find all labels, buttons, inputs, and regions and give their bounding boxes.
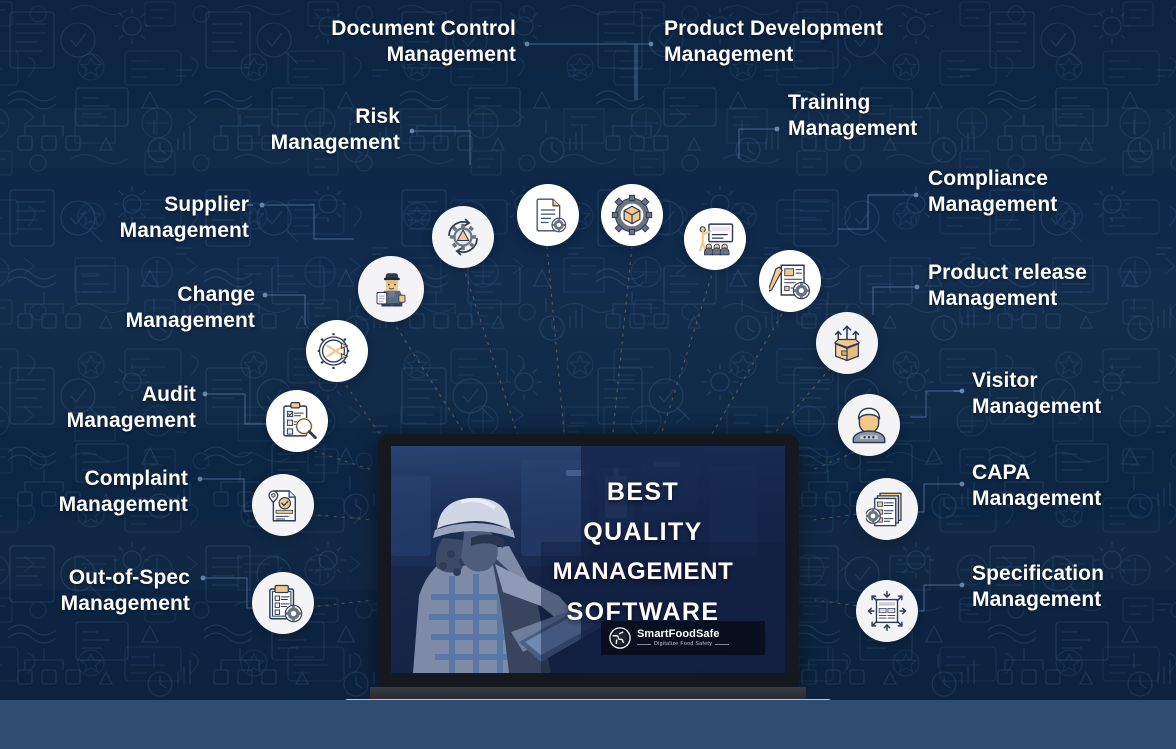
module-label-audit: Audit Management <box>0 382 196 433</box>
headline-line-1: BEST <box>517 472 769 512</box>
module-label-product-release: Product release Management <box>928 260 1168 311</box>
audit-clipboard-magnifier-icon <box>276 400 318 442</box>
compliance-document-pen-gear-icon <box>769 260 811 302</box>
specification-document-arrows-icon <box>866 590 908 632</box>
product-development-gear-box-icon <box>611 194 653 236</box>
module-label-complaint: Complaint Management <box>0 466 188 517</box>
footer-band <box>0 700 1176 749</box>
bubble-product-development-management[interactable] <box>601 184 663 246</box>
supplier-worker-icon <box>370 268 412 310</box>
bubble-product-release-management[interactable] <box>816 312 878 374</box>
bubble-specification-management[interactable] <box>856 580 918 642</box>
laptop-mockup: BEST QUALITY MANAGEMENT SOFTWARE SmartFo… <box>362 434 814 724</box>
bubble-visitor-management[interactable] <box>838 394 900 456</box>
bubble-out-of-spec-management[interactable] <box>252 572 314 634</box>
complaint-document-icon <box>262 484 304 526</box>
bubble-risk-management[interactable] <box>432 206 494 268</box>
brand-tagline-text: Digitalize Food Safety <box>654 642 712 647</box>
headline-line-3: MANAGEMENT <box>517 552 769 592</box>
module-label-product-development: Product Development Management <box>664 16 950 67</box>
bubble-document-control-management[interactable] <box>517 184 579 246</box>
brand-tagline: Digitalize Food Safety <box>637 642 729 647</box>
brand-name: SmartFoodSafe <box>637 629 729 640</box>
bubble-complaint-management[interactable] <box>252 474 314 536</box>
globe-icon <box>609 627 631 649</box>
module-label-change: Change Management <box>16 282 255 333</box>
bubble-capa-management[interactable] <box>856 478 918 540</box>
outofspec-clipboard-gear-icon <box>262 582 304 624</box>
module-label-specification: Specification Management <box>972 561 1176 612</box>
bubble-supplier-management[interactable] <box>358 256 424 322</box>
module-label-risk: Risk Management <box>160 104 400 155</box>
headline-line-2: QUALITY <box>517 512 769 552</box>
laptop-lid: BEST QUALITY MANAGEMENT SOFTWARE SmartFo… <box>377 434 799 687</box>
risk-cycle-gear-icon <box>442 216 484 258</box>
module-label-out-of-spec: Out-of-Spec Management <box>0 565 190 616</box>
module-label-supplier: Supplier Management <box>10 192 249 243</box>
bubble-change-management[interactable] <box>306 320 368 382</box>
training-presentation-icon <box>694 218 736 260</box>
module-label-compliance: Compliance Management <box>928 166 1164 217</box>
module-label-document-control: Document Control Management <box>244 16 516 67</box>
laptop-screen: BEST QUALITY MANAGEMENT SOFTWARE SmartFo… <box>391 446 785 673</box>
bubble-audit-management[interactable] <box>266 390 328 452</box>
change-gear-arrows-icon <box>316 330 358 372</box>
visitor-person-icon <box>848 404 890 446</box>
document-gear-icon <box>528 195 568 235</box>
capa-stacked-docs-gear-icon <box>866 488 908 530</box>
module-label-visitor: Visitor Management <box>972 368 1176 419</box>
module-label-training: Training Management <box>788 90 998 141</box>
bubble-compliance-management[interactable] <box>759 250 821 312</box>
brand-logo: SmartFoodSafe Digitalize Food Safety <box>601 621 765 655</box>
module-label-capa: CAPA Management <box>972 460 1176 511</box>
bubble-training-management[interactable] <box>684 208 746 270</box>
product-release-box-icon <box>826 322 868 364</box>
screen-headline: BEST QUALITY MANAGEMENT SOFTWARE <box>517 472 769 632</box>
infographic-canvas: Document Control Management Risk Managem… <box>0 0 1176 749</box>
